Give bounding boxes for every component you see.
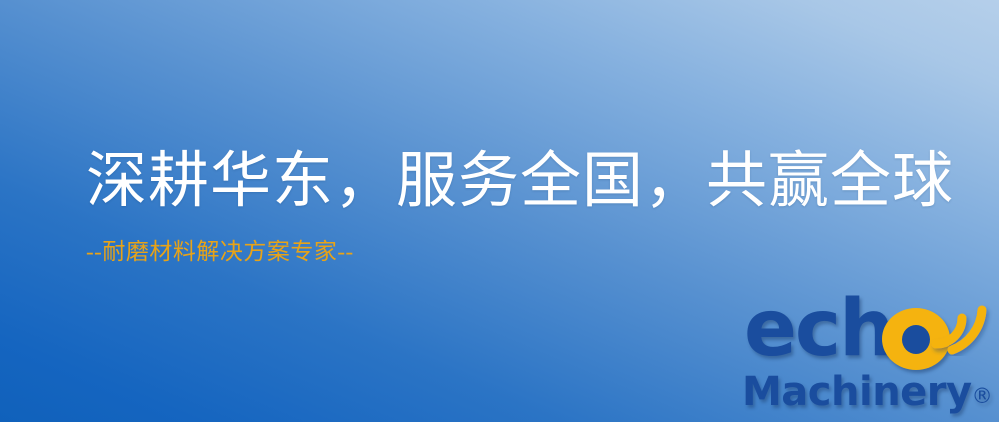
- banner-subtitle: --耐磨材料解决方案专家--: [86, 216, 946, 266]
- hero-banner: 深耕华东，服务全国，共赢全球 --耐磨材料解决方案专家-- ech: [0, 0, 999, 422]
- signal-waves-icon: [928, 292, 998, 356]
- banner-text-block: 深耕华东，服务全国，共赢全球 --耐磨材料解决方案专家--: [86, 148, 946, 266]
- logo-wordmark: ech: [742, 296, 994, 376]
- logo-echo-text: ech: [744, 290, 893, 368]
- registered-trademark-icon: ®: [972, 384, 993, 408]
- banner-headline: 深耕华东，服务全国，共赢全球: [86, 148, 946, 216]
- logo-machinery-text: Machinery: [742, 369, 972, 415]
- logo-company-name: Machinery®: [742, 372, 993, 412]
- company-logo[interactable]: ech M: [742, 296, 994, 418]
- logo-o-counter: [902, 325, 930, 354]
